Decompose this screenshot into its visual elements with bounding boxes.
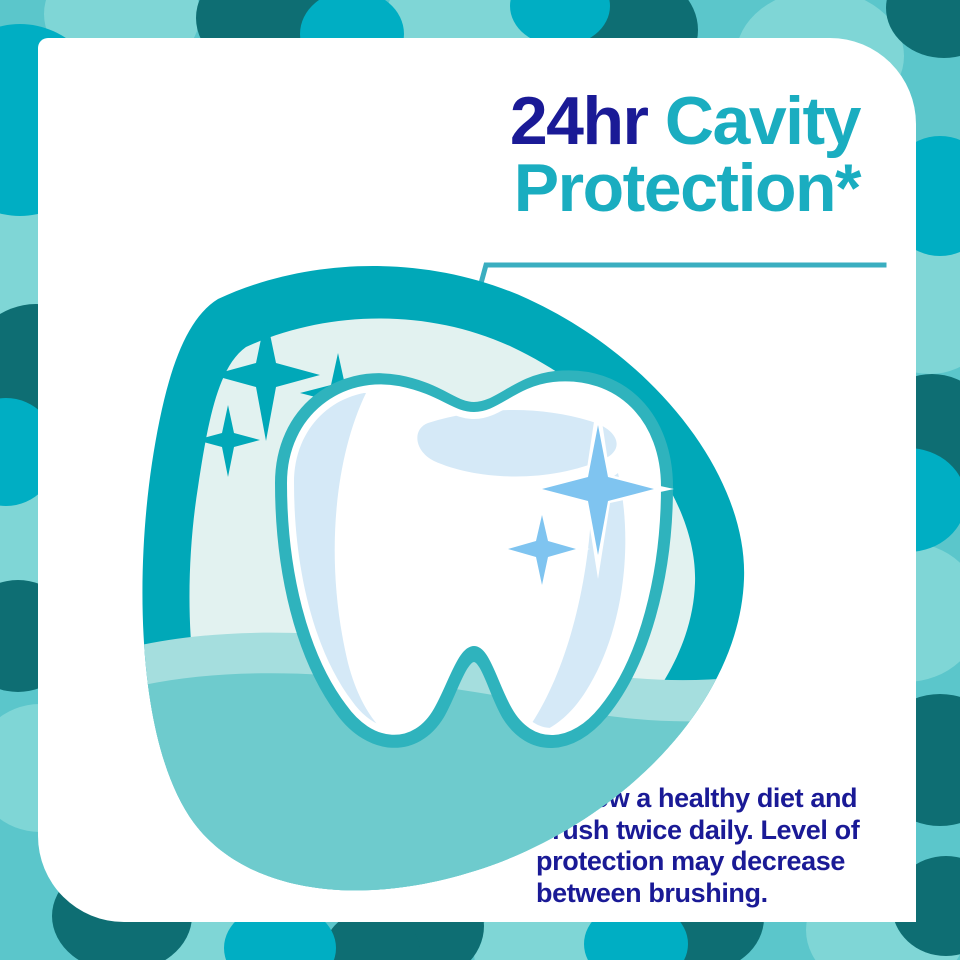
content-card: 24hr Cavity Protection* *Follow a health… [38, 38, 916, 922]
poster-canvas: 24hr Cavity Protection* *Follow a health… [0, 0, 960, 960]
page-title: 24hr Cavity Protection* [300, 88, 860, 221]
headline-space [647, 83, 664, 159]
headline-subject: Cavity [665, 83, 860, 159]
tooth-protection-badge [98, 243, 798, 922]
headline-line-2: Protection* [514, 150, 860, 226]
headline-duration: 24hr [510, 83, 648, 159]
